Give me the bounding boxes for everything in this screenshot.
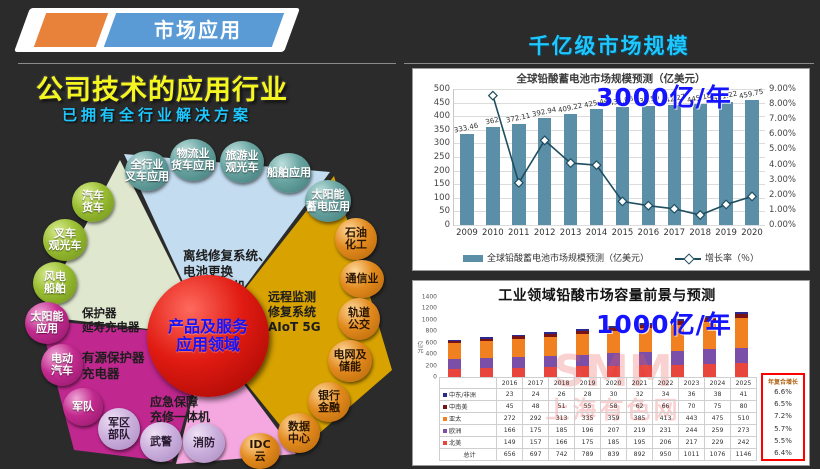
table-row-header: 中南美 (440, 401, 497, 413)
chart1-y2tick: 4.00% (769, 160, 796, 170)
table-cell: 273 (731, 425, 757, 437)
table-cell: 32 (627, 389, 653, 401)
chart2-bar-segment (607, 353, 620, 366)
chart1-y2tick: 2.00% (769, 190, 796, 200)
bubble-idc-cloud[interactable]: IDC 云 (240, 433, 280, 469)
table-row: 亚太272292313335359385413443475510 (440, 413, 757, 425)
bubble-car-truck[interactable]: 汽车 货车 (72, 182, 114, 222)
table-cell: 166 (549, 437, 575, 449)
chart1-ytick: 500 (434, 84, 450, 94)
bubble-grid-storage[interactable]: 电网及 储能 (328, 340, 372, 382)
divider-left (18, 63, 396, 64)
chart1-ytick: 150 (434, 179, 450, 189)
right-section-title: 千亿级市场规模 (404, 30, 814, 60)
table-cell: 892 (627, 449, 653, 461)
table-cell: 45 (497, 401, 523, 413)
annotation-1000yi: 1000亿/年 (596, 305, 732, 341)
chart2-bar-segment (639, 352, 652, 365)
table-cell: 244 (679, 425, 705, 437)
chart1-xtick: 2012 (534, 228, 556, 238)
table-cell: 175 (523, 425, 549, 437)
table-column-header: 2016 (497, 378, 523, 389)
chart2-stacked-bar (544, 332, 557, 377)
table-cell: 48 (523, 401, 549, 413)
chart2-bar-segment (671, 365, 684, 377)
table-cell: 195 (627, 437, 653, 449)
chart1-xtick: 2014 (586, 228, 608, 238)
table-cell: 313 (549, 413, 575, 425)
chart2-ylabel: 亿元 (415, 341, 424, 353)
bubble-electric-vehicle[interactable]: 电动 汽车 (41, 344, 83, 386)
chart1-y2tick: 9.00% (769, 84, 796, 94)
table-cell: 742 (549, 449, 575, 461)
chart2-ytick: 0 (433, 374, 437, 381)
chart1-ytick: 350 (434, 125, 450, 135)
chart2-ytick: 1000 (422, 316, 437, 323)
chart2-stacked-bar (448, 340, 461, 377)
table-column-header: 2025 (731, 378, 757, 389)
table-row-header: 北美 (440, 437, 497, 449)
chart2-bar-segment (703, 349, 716, 364)
chart1-gridline (454, 225, 765, 226)
chart2-bar-segment (448, 369, 461, 378)
table-cell: 789 (575, 449, 601, 461)
chart2-bar-segment (480, 341, 493, 358)
bubble-rail-transit[interactable]: 轨道 公交 (338, 298, 380, 340)
table-cell: 207 (601, 425, 627, 437)
chart1-ytick: 400 (434, 111, 450, 121)
table-row-header: 欧洲 (440, 425, 497, 437)
chart2-bar-segment (735, 363, 748, 377)
table-cell: 217 (679, 437, 705, 449)
table-column-header: 2017 (523, 378, 549, 389)
cagr-highlight-box: 年复合增长6.6%6.5%7.2%5.7%5.5%6.4% (761, 373, 805, 461)
chart1-xtick: 2010 (482, 228, 504, 238)
chart1-y2tick: 1.00% (769, 205, 796, 215)
table-cell: 1011 (679, 449, 705, 461)
table-cell: 839 (601, 449, 627, 461)
chart2-stacked-bar (735, 312, 748, 377)
chart2-ytick: 1400 (422, 294, 437, 301)
center-label-line2: 应用领域 (176, 336, 240, 354)
bubble-armed-police[interactable]: 武警 (140, 422, 182, 462)
table-cell: 149 (497, 437, 523, 449)
table-column-header: 2023 (679, 378, 705, 389)
cagr-value: 6.6% (763, 386, 803, 398)
table-cell: 335 (575, 413, 601, 425)
chart1-xtick: 2019 (715, 228, 737, 238)
chart2-bar-segment (703, 364, 716, 377)
chart2-bar-segment (607, 366, 620, 377)
table-cell: 292 (523, 413, 549, 425)
chart2-bar-segment (576, 366, 589, 377)
chart2-bar-segment (448, 359, 461, 368)
table-cell: 229 (705, 437, 731, 449)
chart1-legend-line: 增长率（％） (675, 251, 759, 264)
bubble-petrochemical[interactable]: 石油 化工 (335, 218, 377, 260)
ribbon-orange-block (34, 13, 108, 47)
chart2-bar-segment (544, 367, 557, 377)
chart1-ytick: 0 (445, 220, 450, 230)
legend-dot-icon (443, 429, 447, 433)
chart2-bar-segment (512, 357, 525, 368)
table-cell: 1076 (705, 449, 731, 461)
bubble-data-center[interactable]: 数据 中心 (278, 413, 320, 453)
table-cell: 242 (731, 437, 757, 449)
bubble-wind-ship[interactable]: 风电 船舶 (33, 262, 77, 304)
bubble-military-district[interactable]: 军区 部队 (98, 408, 140, 450)
chart2-bar-segment (639, 365, 652, 377)
chart1-y2tick: 6.00% (769, 129, 796, 139)
table-cell: 34 (653, 389, 679, 401)
chart1-ytick: 50 (439, 206, 450, 216)
chart1-ytick: 250 (434, 152, 450, 162)
legend-dot-icon (443, 405, 447, 409)
table-cell: 36 (679, 389, 705, 401)
table-column-header: 2020 (601, 378, 627, 389)
table-cell: 185 (601, 437, 627, 449)
bubble-forklift-sightseeing[interactable]: 叉车 观光车 (43, 219, 87, 261)
table-column-header: 2024 (705, 378, 731, 389)
bubble-forklift-all-industry[interactable]: 全行业 叉车应用 (125, 151, 169, 191)
chart2-bar-segment (671, 351, 684, 365)
table-column-header: 2019 (575, 378, 601, 389)
chart1-y2tick: 7.00% (769, 114, 796, 124)
table-cell: 185 (549, 425, 575, 437)
chart1-xtick: 2018 (689, 228, 711, 238)
chart2-ytick: 400 (426, 351, 437, 358)
table-row-header: 亚太 (440, 413, 497, 425)
table-row: 中东/非洲23242628303234363841 (440, 389, 757, 401)
bubble-bank-finance[interactable]: 银行 金融 (308, 382, 350, 422)
table-cell: 51 (549, 401, 575, 413)
table-cell: 80 (731, 401, 757, 413)
table-row: 欧洲166175185196207219231244259273 (440, 425, 757, 437)
table-cell: 950 (653, 449, 679, 461)
table-cell: 55 (575, 401, 601, 413)
table-cell: 157 (523, 437, 549, 449)
cagr-header: 年复合增长 (763, 375, 803, 386)
chart1-xtick: 2020 (741, 228, 763, 238)
bubble-marine[interactable]: 船舶应用 (267, 153, 311, 193)
center-hub: 产品及服务 应用领域 (147, 275, 269, 397)
bubble-telecom[interactable]: 通信业 (340, 260, 384, 298)
table-cell: 58 (601, 401, 627, 413)
chart2-bar-segment (735, 318, 748, 347)
chart1-y2tick: 5.00% (769, 144, 796, 154)
table-row-header: 中东/非洲 (440, 389, 497, 401)
table-cell: 231 (653, 425, 679, 437)
table-cell: 697 (523, 449, 549, 461)
table-cell: 24 (523, 389, 549, 401)
cagr-value: 5.5% (763, 435, 803, 447)
table-cell: 28 (575, 389, 601, 401)
chart2-bar-segment (544, 337, 557, 356)
table-cell: 75 (705, 401, 731, 413)
table-header-row: 2016201720182019202020212022202320242025 (440, 378, 757, 389)
chart1-ytick: 450 (434, 98, 450, 108)
table-cell: 62 (627, 401, 653, 413)
bubble-solar-storage[interactable]: 太阳能 蓄电应用 (305, 180, 351, 222)
legend-dot-icon (443, 441, 447, 445)
center-label-line1: 产品及服务 (168, 318, 248, 336)
ribbon-label: 市场应用 (118, 16, 278, 44)
chart2-stacked-bar (576, 329, 589, 377)
legend-line-swatch (675, 254, 701, 263)
chart1-xtick: 2015 (612, 228, 634, 238)
table-column-header: 2022 (653, 378, 679, 389)
table-cell: 259 (705, 425, 731, 437)
table-cell: 30 (601, 389, 627, 401)
table-row: 北美149157166175185195206217229242 (440, 437, 757, 449)
table-cell: 510 (731, 413, 757, 425)
page-title: 公司技术的应用行业 (36, 68, 366, 107)
table-cell: 70 (679, 401, 705, 413)
table-cell: 23 (497, 389, 523, 401)
bubble-army[interactable]: 军队 (63, 388, 103, 426)
wedge-label-protector-charger: 保护器 延寿充电器 (82, 306, 140, 335)
chart1-ytick: 200 (434, 166, 450, 176)
chart2-ytick: 800 (426, 328, 437, 335)
bubble-firefighting[interactable]: 消防 (183, 423, 225, 463)
chart1-xtick: 2011 (508, 228, 530, 238)
chart2-stacked-bar (480, 337, 493, 377)
wedge-label-emergency-guarantee: 应急保障 充修一体机 (150, 395, 210, 425)
slide-canvas: 市场应用 千亿级市场规模 公司技术的应用行业 已拥有全行业解决方案 保护器 延寿… (0, 0, 820, 469)
legend-dot-icon (443, 417, 447, 421)
table-cell: 26 (549, 389, 575, 401)
chart1-y2tick: 0.00% (769, 220, 796, 230)
table-corner-cell (440, 378, 497, 389)
wedge-label-active-protector: 有源保护器 充电器 (82, 350, 145, 381)
table-cell: 359 (601, 413, 627, 425)
chart1-xtick: 2017 (663, 228, 685, 238)
table-cell: 206 (653, 437, 679, 449)
table-cell: 413 (653, 413, 679, 425)
chart1-legend-bar: 全球铅酸蓄电池市场规模预测（亿美元） (463, 251, 649, 264)
table-cell: 41 (731, 389, 757, 401)
application-wheel-diagram: 保护器 延寿充电器 离线修复系统、 电池更换 充修一体机 远程监测 修复系统 A… (0, 120, 405, 469)
table-row: 中南美45485155586266707580 (440, 401, 757, 413)
legend-dot-icon (443, 393, 447, 397)
legend-bar-swatch (463, 255, 483, 262)
chart2-bar-segment (576, 355, 589, 367)
table-cell: 196 (575, 425, 601, 437)
annotation-3000yi: 3000亿/年 (596, 78, 732, 114)
chart2-data-table: 2016201720182019202020212022202320242025… (439, 377, 757, 461)
table-cell: 66 (653, 401, 679, 413)
table-column-header: 2018 (549, 378, 575, 389)
table-cell: 219 (627, 425, 653, 437)
wedge-label-remote-monitoring: 远程监测 修复系统 AIoT 5G (268, 290, 321, 335)
chart2-bar-segment (480, 368, 493, 377)
table-column-header: 2021 (627, 378, 653, 389)
section-ribbon: 市场应用 (22, 8, 292, 52)
chart2-ytick: 600 (426, 339, 437, 346)
cagr-value: 6.4% (763, 447, 803, 459)
chart1-legend: 全球铅酸蓄电池市场规模预测（亿美元） 增长率（％） (413, 251, 809, 264)
chart1-ytick: 100 (434, 193, 450, 203)
chart2-bar-segment (576, 334, 589, 355)
table-cell: 272 (497, 413, 523, 425)
chart2-bar-segment (735, 348, 748, 364)
chart2-bar-segment (480, 358, 493, 368)
cagr-value: 7.2% (763, 410, 803, 422)
chart2-ytick: 200 (426, 362, 437, 369)
table-cell: 175 (575, 437, 601, 449)
legend-bar-label: 全球铅酸蓄电池市场规模预测（亿美元） (487, 254, 649, 264)
table-cell: 475 (705, 413, 731, 425)
table-cell: 385 (627, 413, 653, 425)
chart1-xtick: 2013 (560, 228, 582, 238)
chart2-bar-segment (448, 343, 461, 359)
table-cell: 38 (705, 389, 731, 401)
table-cell: 166 (497, 425, 523, 437)
cagr-value: 5.7% (763, 423, 803, 435)
bubble-logistics-truck[interactable]: 物流业 货车应用 (170, 139, 216, 181)
legend-line-label: 增长率（％） (705, 254, 759, 264)
chart1-xtick: 2016 (638, 228, 660, 238)
chart2-bar-segment (544, 356, 557, 367)
chart1-xtick: 2009 (456, 228, 478, 238)
table-cell: 443 (679, 413, 705, 425)
chart2-bar-segment (512, 368, 525, 377)
table-cell: 656 (497, 449, 523, 461)
divider-right (404, 63, 814, 64)
chart1-ytick: 300 (434, 138, 450, 148)
table-row-header: 总计 (440, 449, 497, 461)
chart1-y2tick: 3.00% (769, 175, 796, 185)
cagr-value: 6.5% (763, 398, 803, 410)
chart2-ytick: 1200 (422, 305, 437, 312)
table-cell: 1146 (731, 449, 757, 461)
bubble-tourism-sightseeing[interactable]: 旅游业 观光车 (220, 141, 264, 183)
chart2-stacked-bar (512, 335, 525, 377)
bubble-solar-application[interactable]: 太阳能 应用 (25, 302, 69, 344)
table-row: 总计656697742789839892950101110761146 (440, 449, 757, 461)
chart1-y2tick: 8.00% (769, 99, 796, 109)
chart2-bar-segment (512, 339, 525, 357)
